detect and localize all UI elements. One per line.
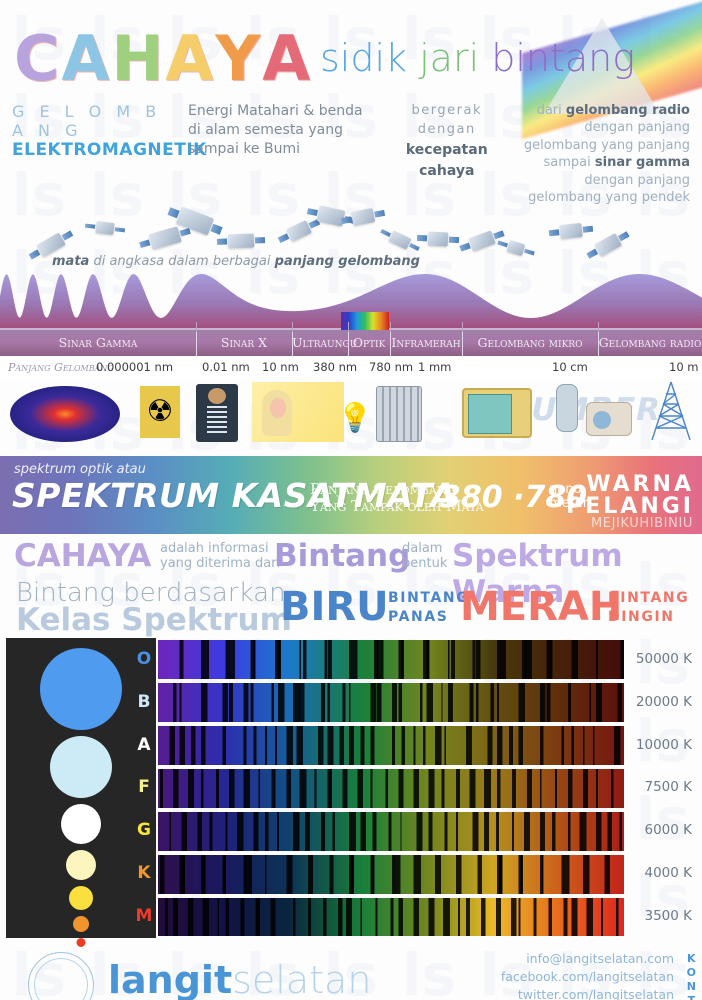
em-band-label: Optik: [348, 335, 390, 350]
em-band-label: Sinar Gamma: [0, 335, 196, 350]
heater-icon: [376, 386, 422, 442]
intro-col-range: dari gelombang radio dengan panjang gelo…: [515, 102, 690, 206]
temperature-label: 7500 K: [644, 779, 692, 795]
em-band-divider: [196, 332, 197, 356]
space-telescope-icon: [594, 233, 622, 257]
title-letter: A: [165, 22, 215, 95]
radio-receiver-icon: [586, 402, 632, 442]
panas-line1: BINTANG: [388, 589, 469, 607]
chart-temperature-labels: 50000 K20000 K10000 K7500 K6000 K4000 K3…: [626, 638, 696, 938]
spectrum-strip: [158, 812, 624, 851]
star-size-circle: [73, 916, 89, 932]
range-gamma: sinar gamma: [595, 155, 690, 170]
em-band-divider: [292, 332, 293, 356]
adalah-line1: adalah informasi: [160, 542, 280, 557]
gamma-sky-map-icon: [10, 386, 120, 442]
space-telescope-icon: [559, 223, 582, 239]
em-source-icons-row: SUMBER ☢💡: [0, 380, 702, 450]
star-size-circle: [40, 648, 122, 730]
title-letter: Y: [215, 22, 262, 95]
em-band-tick: [292, 322, 293, 332]
visible-small-label: spektrum optik atau: [14, 462, 146, 477]
subtitle-word: sidik: [320, 36, 419, 80]
warna-line1: WARNA: [566, 474, 694, 496]
seal-inner-ring: [34, 958, 88, 1000]
spectrum-strip: [158, 683, 624, 722]
mobile-phone-icon: [556, 384, 578, 432]
wavelength-value: 0.01 nm: [202, 360, 250, 374]
wavelength-value: 10 m: [669, 360, 699, 374]
poster-footer: langitselatan info@langitselatan.comface…: [0, 938, 702, 1000]
em-band-label: Gelombang radio: [598, 335, 702, 350]
stmt-biru: BIRU: [280, 584, 389, 630]
star-size-circle: [61, 804, 101, 844]
space-telescope-icon: [351, 208, 375, 226]
satellite-wave-band: mata di angkasa dalam berbagai panjang g…: [0, 208, 702, 328]
chart-spectrum-rows: [158, 638, 624, 938]
star-size-circle: [69, 886, 93, 910]
space-telescope-icon: [95, 221, 114, 235]
spectrum-strip: [158, 898, 624, 937]
kontak-letter: T: [687, 994, 696, 1000]
wavelength-value: 0.000001 nm: [96, 360, 173, 374]
absorption-lines: [158, 898, 624, 937]
title-letter: H: [112, 22, 166, 95]
wavelength-value: 380 nm: [313, 360, 357, 374]
poster-header: CAHAYA sidik jari bintang: [0, 0, 702, 100]
xray-person-icon: [196, 384, 238, 442]
wavelength-value: 780 nm: [369, 360, 413, 374]
mejikuhibiniu-label: MEJIKUHIBINIU: [591, 516, 693, 531]
temperature-label: 20000 K: [636, 694, 692, 710]
stmt-cahaya: CAHAYA: [14, 538, 151, 574]
range-e: dengan panjang gelombang yang pendek: [528, 173, 690, 205]
page-subtitle: sidik jari bintang: [320, 36, 635, 80]
space-telescope-icon: [148, 227, 181, 251]
spectral-class-label: B: [126, 692, 162, 712]
range-a: dari: [537, 103, 566, 118]
absorption-lines: [158, 640, 624, 679]
panas-line2: PANAS: [388, 608, 469, 626]
space-telescope-icon: [388, 231, 411, 251]
logo-thin: selatan: [232, 958, 371, 1000]
infographic-poster: lslslslslslslslslslslslslslslslslslslsls…: [0, 0, 702, 1000]
intro-col-em: G E L O M B A N G ELEKTROMAGNETIK: [12, 102, 178, 160]
spectrum-strip: [158, 640, 624, 679]
absorption-lines: [158, 812, 624, 851]
em-label-line2: ELEKTROMAGNETIK: [12, 140, 178, 160]
logo-bold: langit: [108, 958, 232, 1000]
spectral-class-label: K: [126, 863, 162, 883]
dingin-line2: DINGIN: [608, 608, 689, 626]
spectral-class-label: O: [126, 649, 162, 669]
star-size-circle: [66, 850, 96, 880]
em-band-label: Sinar X: [196, 335, 292, 350]
temperature-label: 3500 K: [644, 908, 692, 924]
space-telescope-icon: [428, 232, 449, 247]
wavelength-value: 10 nm: [262, 360, 299, 374]
em-band-label: Gelombang mikro: [462, 335, 598, 350]
em-label-line1: G E L O M B A N G: [12, 102, 178, 140]
stmt-bintang: Bintang: [274, 538, 410, 574]
contact-item[interactable]: facebook.com/langitselatan: [434, 968, 674, 986]
microwave-oven-icon: [462, 388, 532, 438]
intro-row: G E L O M B A N G ELEKTROMAGNETIK Energi…: [0, 100, 702, 206]
subtitle-word: jari: [419, 36, 491, 80]
dingin-line1: BINTANG: [608, 589, 689, 607]
wavelength-row: Panjang Gelombang 0.000001 nm0.01 nm10 n…: [0, 356, 702, 380]
absorption-lines: [158, 855, 624, 894]
radiation-hazard-icon: ☢: [140, 386, 180, 438]
speed-line2: kecepatan cahaya: [406, 142, 488, 179]
page-title: CAHAYA: [14, 22, 312, 95]
stmt-dalam-bentuk: dalam bentuk: [402, 542, 447, 571]
temperature-label: 4000 K: [644, 865, 692, 881]
space-telescope-icon: [228, 234, 254, 249]
em-band-tick: [348, 322, 349, 332]
title-letter: A: [62, 22, 112, 95]
spectral-class-label: G: [126, 820, 162, 840]
sun-uv-woman-icon: [252, 382, 344, 442]
spectral-class-label: A: [126, 735, 162, 755]
stmt-bintang-panas: BINTANG PANAS: [388, 589, 469, 625]
warna-line2: PELANGI: [566, 496, 694, 518]
star-size-circle: [50, 736, 112, 798]
contact-list: info@langitselatan.comfacebook.com/langi…: [434, 950, 674, 1000]
spectral-class-chart: OBAFGKM 50000 K20000 K10000 K7500 K6000 …: [6, 638, 696, 938]
em-band-divider: [390, 332, 391, 356]
absorption-lines: [158, 769, 624, 808]
space-telescope-icon: [468, 231, 495, 252]
spectrum-strip: [158, 726, 624, 765]
em-band-tick: [462, 322, 463, 332]
em-band-divider: [348, 332, 349, 356]
absorption-lines: [158, 726, 624, 765]
title-letter: C: [14, 22, 62, 95]
em-band-divider: [462, 332, 463, 356]
em-band-divider: [598, 332, 599, 356]
statement-block: CAHAYA adalah informasi yang diterima da…: [0, 534, 702, 634]
radio-tower-icon: [646, 380, 696, 442]
kontak-vertical-label: KONTAK: [687, 952, 696, 1000]
em-band-tick: [598, 322, 599, 332]
stmt-merah: MERAH: [460, 584, 622, 630]
space-telescope-icon: [286, 220, 312, 242]
wavelength-value: 1 mm: [418, 360, 451, 374]
em-band-label: Ultraungu: [292, 335, 348, 350]
chart-class-labels: OBAFGKM: [126, 638, 162, 938]
absorption-lines: [158, 683, 624, 722]
space-telescope-icon: [507, 240, 526, 256]
contact-item[interactable]: twitter.com/langitselatan: [434, 986, 674, 1000]
kontak-letter: N: [687, 980, 696, 994]
em-band-tick: [196, 322, 197, 332]
em-band-tick: [390, 322, 391, 332]
visible-spectrum-banner: spektrum optik atau SPEKTRUM KASATMATA P…: [0, 456, 702, 534]
wavelength-value: 10 cm: [552, 360, 588, 374]
subtitle-word: bintang: [491, 36, 635, 80]
kontak-letter: O: [687, 966, 696, 980]
kontak-letter: K: [687, 952, 696, 966]
light-bulb-icon: 💡: [340, 398, 370, 438]
contact-item[interactable]: info@langitselatan.com: [434, 950, 674, 968]
temperature-label: 50000 K: [636, 651, 692, 667]
warna-pelangi-label: WARNA PELANGI: [566, 474, 694, 518]
intro-col-speed: bergerak dengan kecepatan cahaya: [388, 102, 505, 181]
dalam-line1: dalam: [402, 542, 447, 557]
temperature-label: 6000 K: [644, 822, 692, 838]
title-letter: A: [262, 22, 312, 95]
langitselatan-seal-icon: [28, 952, 94, 1000]
dalam-line2: bentuk: [402, 557, 447, 572]
spectrum-strip: [158, 855, 624, 894]
stmt-bintang-dingin: BINTANG DINGIN: [608, 589, 689, 625]
speed-line1: bergerak dengan: [388, 102, 505, 140]
langitselatan-wordmark: langitselatan: [108, 958, 371, 1000]
spectrum-strip: [158, 769, 624, 808]
range-radio: gelombang radio: [566, 103, 690, 118]
intro-col-energy: Energi Matahari & benda di alam semesta …: [188, 102, 378, 159]
temperature-label: 10000 K: [636, 737, 692, 753]
adalah-line2: yang diterima dari: [160, 557, 280, 572]
spectral-class-label: F: [126, 777, 162, 797]
em-band-label: Inframerah: [390, 335, 462, 350]
em-spectrum-bar: Sinar GammaSinar XUltraunguOptikInframer…: [0, 328, 702, 356]
stmt-kelas-spektrum: Kelas Spektrum: [16, 602, 292, 638]
stmt-adalah: adalah informasi yang diterima dari: [160, 542, 280, 571]
spectral-class-label: M: [126, 906, 162, 926]
